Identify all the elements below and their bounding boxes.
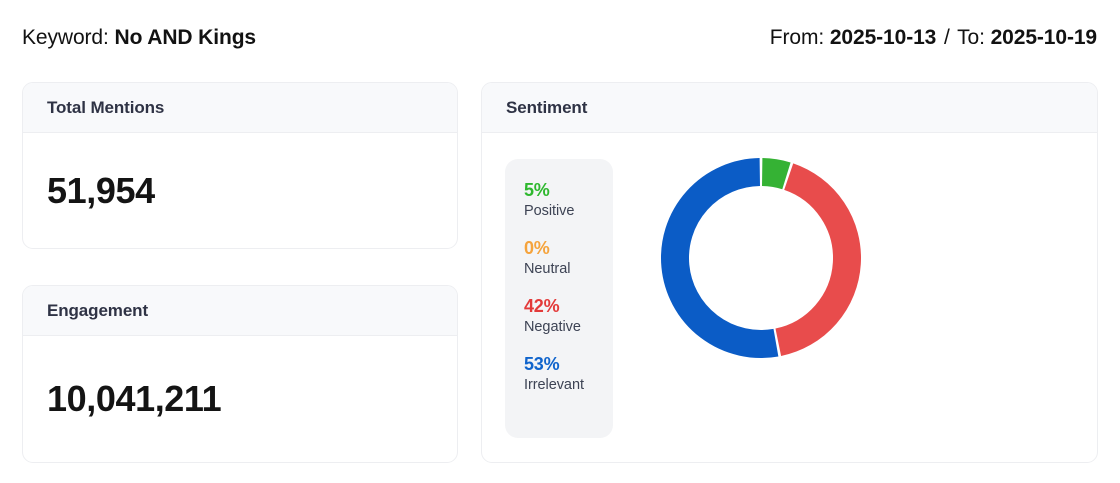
date-from-value: 2025-10-13 — [830, 26, 936, 49]
dashboard-page: Keyword: No AND Kings From: 2025-10-13 /… — [0, 0, 1120, 483]
date-range-filter: From: 2025-10-13 / To: 2025-10-19 — [770, 26, 1098, 50]
keyword-value: No AND Kings — [115, 26, 257, 49]
donut-svg — [656, 153, 866, 363]
legend-item-irrelevant: 53% Irrelevant — [524, 353, 613, 395]
engagement-card: Engagement 10,041,211 — [22, 285, 458, 463]
total-mentions-card: Total Mentions 51,954 — [22, 82, 458, 249]
legend-item-negative: 42% Negative — [524, 295, 613, 337]
legend-negative-label: Negative — [524, 318, 613, 338]
legend-positive-label: Positive — [524, 202, 613, 222]
donut-segment-positive — [762, 172, 786, 176]
legend-positive-percent: 5% — [524, 179, 613, 202]
engagement-card-body: 10,041,211 — [23, 336, 457, 462]
total-mentions-title: Total Mentions — [47, 98, 164, 118]
sentiment-card-body: 5% Positive 0% Neutral 42% Negative 53% … — [482, 133, 1097, 462]
date-range-separator: / — [942, 26, 952, 49]
total-mentions-card-header: Total Mentions — [23, 83, 457, 133]
dashboard-header: Keyword: No AND Kings From: 2025-10-13 /… — [0, 0, 1120, 76]
keyword-label: Keyword: — [22, 26, 109, 49]
legend-neutral-percent: 0% — [524, 237, 613, 260]
sentiment-title: Sentiment — [506, 98, 587, 118]
total-mentions-card-body: 51,954 — [23, 133, 457, 248]
legend-item-neutral: 0% Neutral — [524, 237, 613, 279]
legend-neutral-label: Neutral — [524, 260, 613, 280]
sentiment-card-header: Sentiment — [482, 83, 1097, 133]
legend-negative-percent: 42% — [524, 295, 613, 318]
donut-segment-irrelevant — [675, 172, 776, 344]
engagement-title: Engagement — [47, 301, 148, 321]
legend-item-positive: 5% Positive — [524, 179, 613, 221]
engagement-card-header: Engagement — [23, 286, 457, 336]
date-from-label: From: — [770, 26, 824, 49]
legend-irrelevant-label: Irrelevant — [524, 376, 613, 396]
sentiment-donut-chart — [656, 153, 866, 363]
total-mentions-value: 51,954 — [47, 170, 155, 212]
sentiment-card: Sentiment 5% Positive 0% Neutral 42% Neg… — [481, 82, 1098, 463]
date-to-value: 2025-10-19 — [991, 26, 1097, 49]
sentiment-legend: 5% Positive 0% Neutral 42% Negative 53% … — [505, 159, 613, 438]
engagement-value: 10,041,211 — [47, 378, 221, 420]
keyword-filter: Keyword: No AND Kings — [22, 26, 256, 50]
date-to-label: To: — [957, 26, 985, 49]
donut-segment-negative — [778, 177, 847, 343]
legend-irrelevant-percent: 53% — [524, 353, 613, 376]
